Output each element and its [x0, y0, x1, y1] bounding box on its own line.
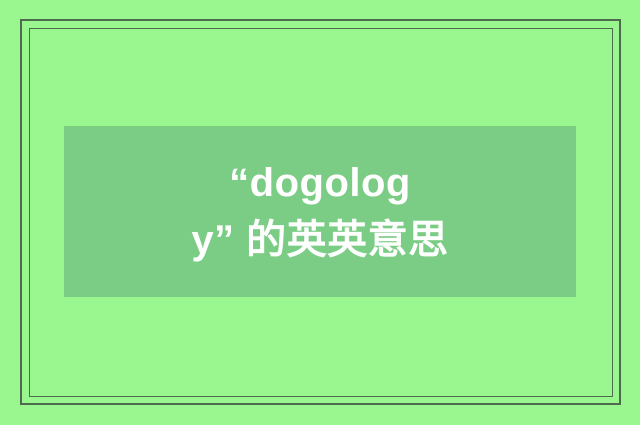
page-root: “dogolog y” 的英英意思: [0, 0, 640, 425]
banner-panel: “dogolog y” 的英英意思: [64, 126, 576, 297]
banner-title: “dogolog y” 的英英意思: [74, 155, 566, 269]
